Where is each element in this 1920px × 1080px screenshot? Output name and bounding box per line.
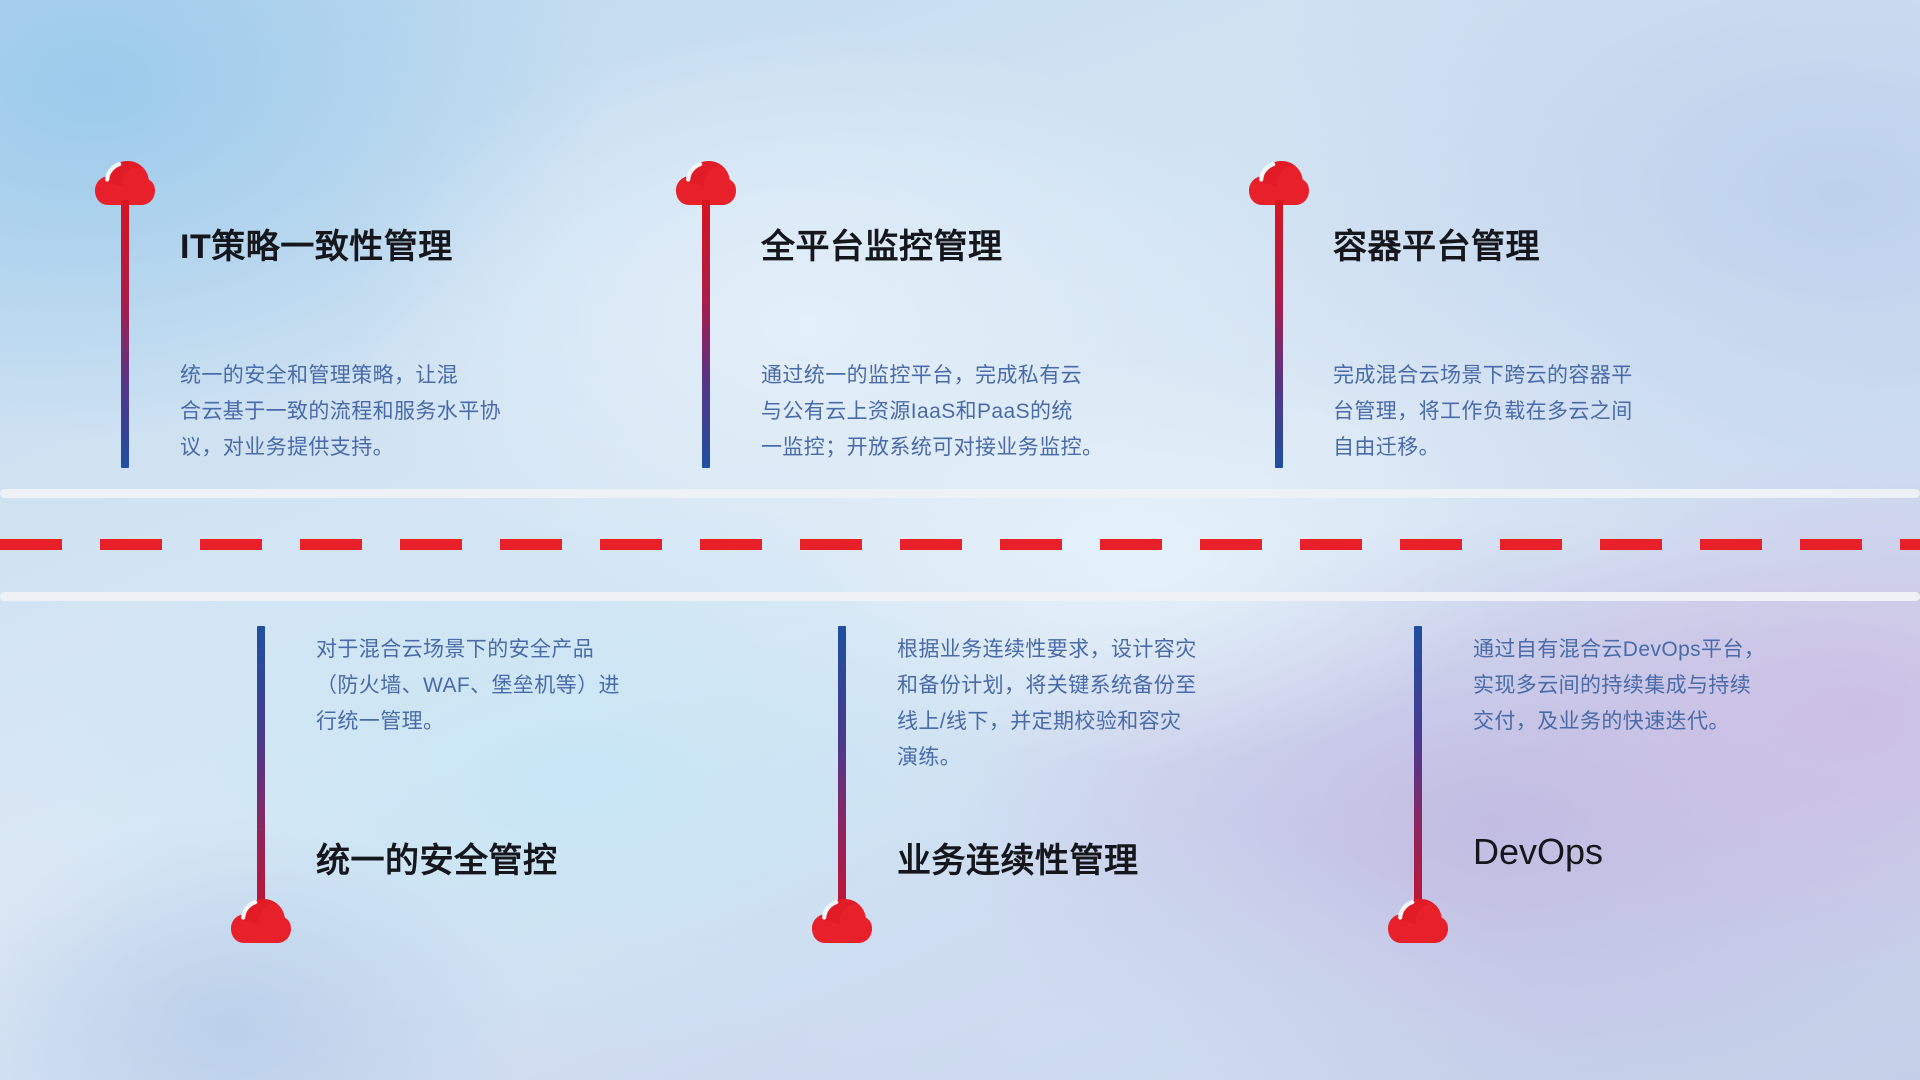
stem-line xyxy=(121,200,129,468)
card-description: 根据业务连续性要求，设计容灾 和备份计划，将关键系统备份至 线上/线下，并定期校… xyxy=(897,632,1327,776)
card-title: 业务连续性管理 xyxy=(897,833,1139,882)
cloud-icon xyxy=(811,898,873,944)
card-description: 通过统一的监控平台，完成私有云 与公有云上资源IaaS和PaaS的统 一监控；开… xyxy=(761,358,1201,466)
card-description: 对于混合云场景下的安全产品 （防火墙、WAF、堡垒机等）进 行统一管理。 xyxy=(316,632,746,740)
card-title: DevOps xyxy=(1473,831,1603,873)
card-title: 容器平台管理 xyxy=(1333,219,1540,268)
card-title: 全平台监控管理 xyxy=(761,219,1003,268)
divider-rule-bottom xyxy=(0,592,1920,601)
card-description: 统一的安全和管理策略，让混 合云基于一致的流程和服务水平协 议，对业务提供支持。 xyxy=(180,358,610,466)
cloud-icon xyxy=(1387,898,1449,944)
divider-band xyxy=(0,489,1920,601)
card-description: 完成混合云场景下跨云的容器平 台管理，将工作负载在多云之间 自由迁移。 xyxy=(1333,358,1773,466)
stem-line xyxy=(702,200,710,468)
card-title: 统一的安全管控 xyxy=(316,833,558,882)
stem-line xyxy=(1414,626,1422,914)
card-description: 通过自有混合云DevOps平台， 实现多云间的持续集成与持续 交付，及业务的快速… xyxy=(1473,632,1893,740)
divider-dashed-road-line xyxy=(0,539,1920,550)
divider-rule-top xyxy=(0,489,1920,498)
stem-line xyxy=(257,626,265,914)
stem-line xyxy=(1275,200,1283,468)
card-title: IT策略一致性管理 xyxy=(180,219,453,268)
cloud-icon xyxy=(230,898,292,944)
stem-line xyxy=(838,626,846,914)
